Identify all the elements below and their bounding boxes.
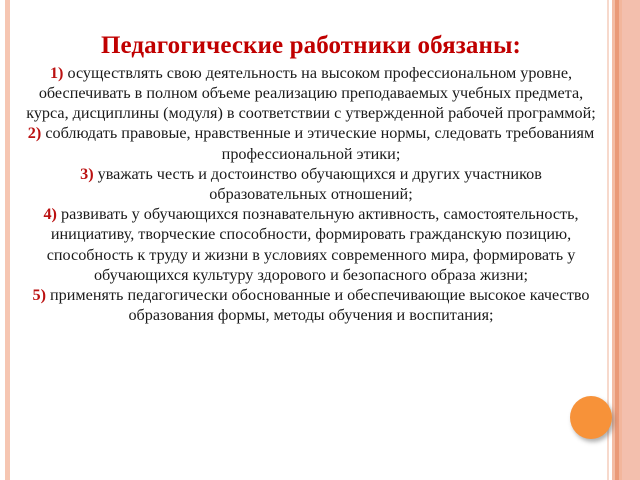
list-item-text: развивать у обучающихся познавательную а… [47,205,579,284]
list-item: 3) уважать честь и достоинство обучающих… [22,164,600,204]
slide-title: Педагогические работники обязаны: [22,32,600,61]
list-item: 4) развивать у обучающихся познавательну… [22,204,600,285]
list-item-text: применять педагогически обоснованные и о… [46,286,590,324]
list-item: 5) применять педагогически обоснованные … [22,285,600,325]
left-accent-stripe [5,0,10,480]
list-item-text: уважать честь и достоинство обучающихся … [94,165,542,203]
list-marker: 4) [43,205,56,223]
slide-content: Педагогические работники обязаны: 1) осу… [22,32,600,325]
list-item: 2) соблюдать правовые, нравственные и эт… [22,123,600,163]
right-accent-stripe-5 [622,0,640,480]
list-item-text: соблюдать правовые, нравственные и этиче… [41,124,594,162]
list-marker: 5) [32,286,45,304]
slide-canvas: Педагогические работники обязаны: 1) осу… [0,0,640,480]
list-item-text: осуществлять свою деятельность на высоко… [26,64,596,122]
list-item: 1) осуществлять свою деятельность на выс… [22,63,600,124]
duties-list: 1) осуществлять свою деятельность на выс… [22,63,600,326]
list-marker: 2) [28,124,41,142]
orange-circle-decoration [570,396,612,439]
list-marker: 3) [80,165,93,183]
list-marker: 1) [50,64,63,82]
